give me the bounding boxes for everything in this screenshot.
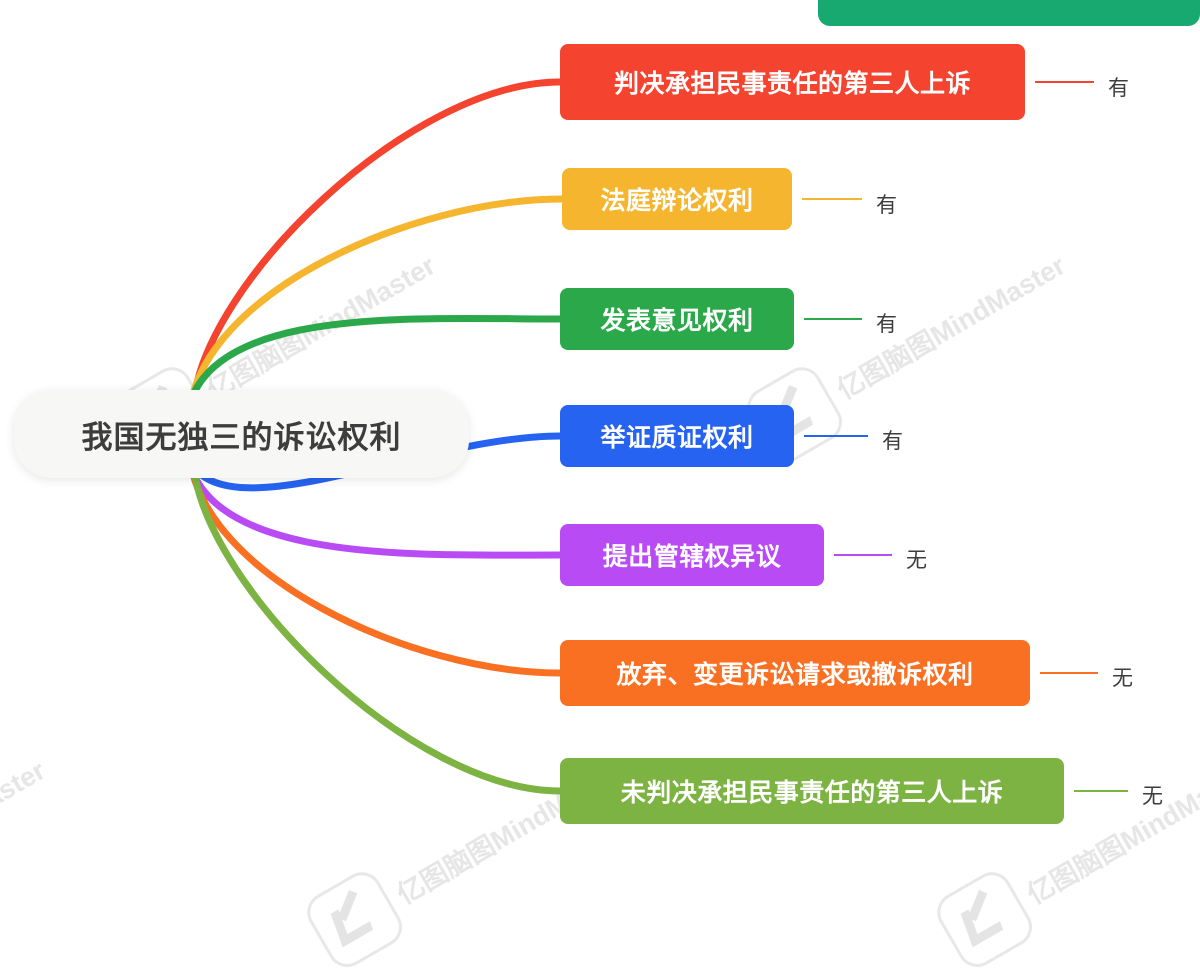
leaf-label[interactable]: 有 (876, 189, 897, 219)
topic-node[interactable]: 放弃、变更诉讼请求或撤诉权利 (560, 640, 1030, 706)
leaf-label[interactable]: 有 (1108, 72, 1129, 102)
leaf-label[interactable]: 有 (876, 308, 897, 338)
topic-node-label: 判决承担民事责任的第三人上诉 (614, 64, 971, 100)
root-node-label: 我国无独三的诉讼权利 (82, 412, 402, 457)
topic-node[interactable]: 未判决承担民事责任的第三人上诉 (560, 758, 1064, 824)
topic-node-label: 举证质证权利 (600, 418, 753, 454)
topic-node-label: 发表意见权利 (600, 301, 753, 337)
topic-node[interactable]: 提出管辖权异议 (560, 524, 824, 586)
mindmaster-logo-icon (300, 865, 409, 974)
topic-node-label: 放弃、变更诉讼请求或撤诉权利 (616, 655, 973, 691)
mindmaster-logo-icon (930, 865, 1039, 974)
leaf-label[interactable]: 无 (1112, 662, 1133, 692)
leaf-label[interactable]: 有 (882, 425, 903, 455)
mindmap-canvas: 亿图脑图MindMaster 亿图脑图MindMaster 亿图脑图MindMa… (0, 0, 1200, 844)
topic-node[interactable]: 举证质证权利 (560, 405, 794, 467)
topic-node-label: 法庭辩论权利 (600, 181, 753, 217)
topic-node-label: 提出管辖权异议 (603, 537, 782, 573)
topic-node[interactable]: 法庭辩论权利 (562, 168, 792, 230)
leaf-label[interactable]: 无 (1142, 780, 1163, 810)
topic-node[interactable]: 发表意见权利 (560, 288, 794, 350)
top-green-bar (818, 0, 1200, 26)
topic-node-label: 未判决承担民事责任的第三人上诉 (621, 773, 1004, 809)
root-node[interactable]: 我国无独三的诉讼权利 (14, 390, 469, 478)
branch-connector (194, 82, 561, 404)
branch-connector (190, 199, 563, 414)
leaf-label[interactable]: 无 (906, 544, 927, 574)
branch-connector (194, 464, 561, 791)
topic-node[interactable]: 判决承担民事责任的第三人上诉 (560, 44, 1025, 120)
